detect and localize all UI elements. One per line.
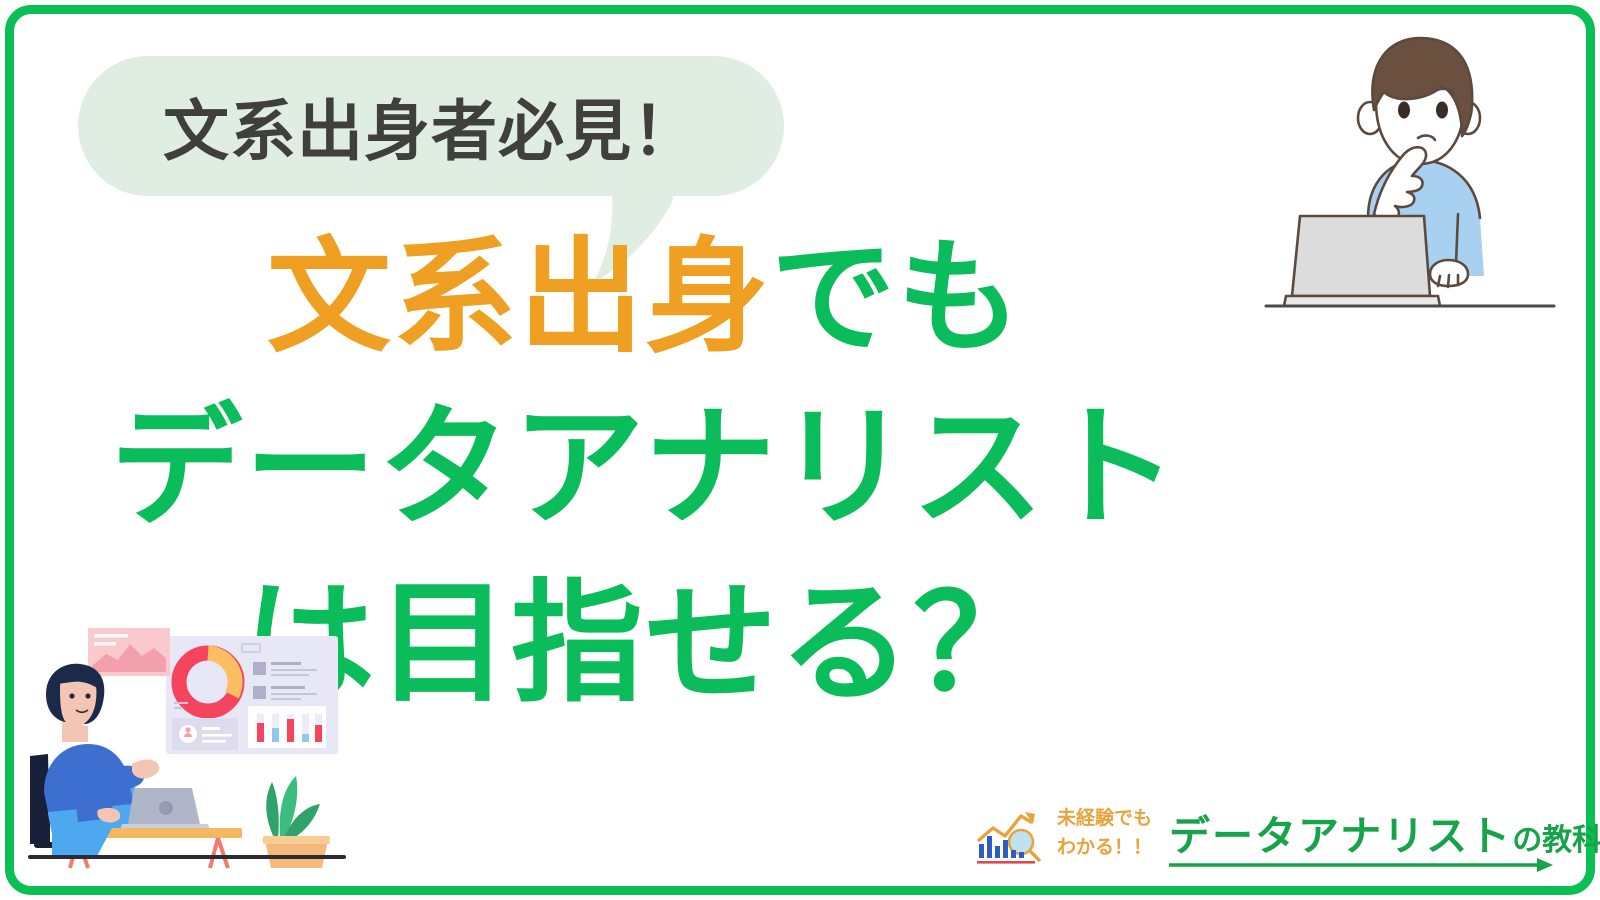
headline-line-2: データアナリスト bbox=[0, 402, 1290, 534]
logo-tagline-line-2: わかる！！ bbox=[1057, 833, 1167, 862]
logo-brand-sub: の教科書 bbox=[1512, 824, 1600, 857]
bar-chart-magnifier-icon bbox=[975, 806, 1053, 868]
logo-brand-main: データアナリスト bbox=[1169, 813, 1512, 859]
logo-tagline-line-1: 未経験でも bbox=[1057, 804, 1167, 833]
thumbnail-canvas: 文系出身者必見！ 文系出身でも データアナリスト は目指せる？ bbox=[0, 0, 1600, 900]
logo-brand-text: データアナリストの教科書📝 bbox=[1169, 802, 1600, 862]
arrow-right-icon bbox=[1169, 856, 1554, 874]
headline-highlight: 文系出身 bbox=[267, 229, 771, 367]
badge-label: 文系出身者必見！ bbox=[78, 56, 784, 196]
woman-thinking-at-laptop-illustration bbox=[1262, 18, 1562, 318]
ground-line bbox=[28, 855, 346, 859]
analyst-at-desk-illustration bbox=[26, 592, 356, 870]
logo-tagline: 未経験でも わかる！！ bbox=[1057, 804, 1167, 872]
headline-line-1: 文系出身でも bbox=[0, 236, 1290, 360]
site-logo[interactable]: 未経験でも わかる！！ データアナリストの教科書📝 bbox=[975, 798, 1555, 878]
headline-line-1-rest: でも bbox=[771, 229, 1023, 367]
